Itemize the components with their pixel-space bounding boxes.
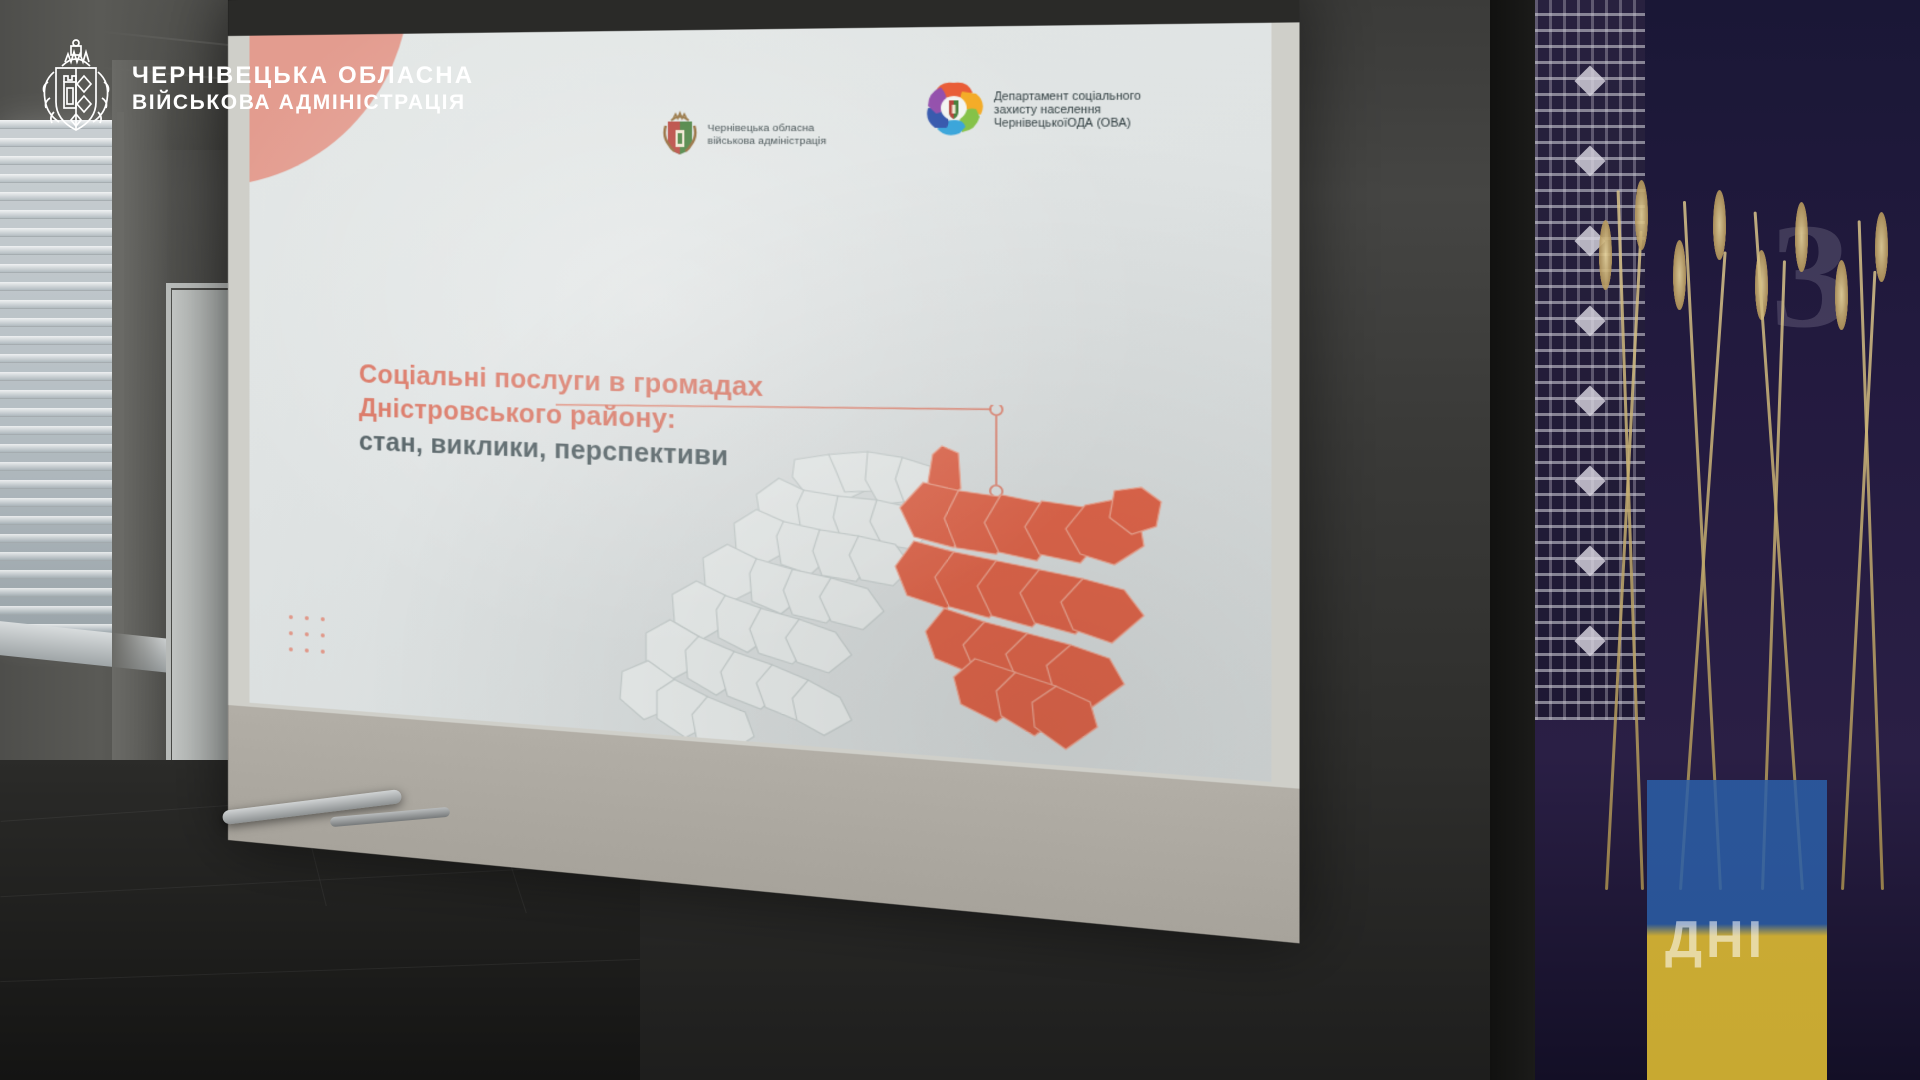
slide-logos: Чернівецька обласна військова адміністра… xyxy=(661,78,1211,169)
coat-of-arms-icon xyxy=(38,38,114,139)
decor-dot xyxy=(289,647,293,651)
decor-dot xyxy=(321,633,325,637)
slide-headline: Соціальні послуги в громадах Дністровськ… xyxy=(359,358,923,484)
decor-dot xyxy=(305,632,309,636)
banner-gap xyxy=(1490,0,1535,1080)
decor-dot xyxy=(305,648,309,652)
decor-dot xyxy=(321,617,325,621)
channel-watermark: ЧЕРНІВЕЦЬКА ОБЛАСНА ВІЙСЬКОВА АДМІНІСТРА… xyxy=(38,38,474,139)
decor-dot xyxy=(321,649,325,653)
wall-pillar xyxy=(112,60,172,760)
decor-dot-grid xyxy=(289,615,337,667)
decor-dot xyxy=(289,631,293,635)
chernivtsi-coat-of-arms-icon xyxy=(661,109,698,161)
logo-social-department: Департамент соціального захисту населенн… xyxy=(923,78,1141,142)
social-protection-department-emblem-icon xyxy=(923,79,984,142)
conference-room-scene: З ДНІ xyxy=(0,0,1920,1080)
decor-dot xyxy=(305,616,309,620)
logo-social-department-label: Департамент соціального захисту населенн… xyxy=(994,90,1141,130)
logo-chernivtsi-ova: Чернівецька обласна військова адміністра… xyxy=(661,108,826,161)
wheat-illustration xyxy=(1595,90,1920,890)
watermark-line-1: ЧЕРНІВЕЦЬКА ОБЛАСНА xyxy=(132,61,474,90)
window-frame xyxy=(0,112,124,652)
banner-word: ДНІ xyxy=(1665,910,1766,970)
decor-dot xyxy=(289,615,293,619)
watermark-line-2: ВІЙСЬКОВА АДМІНІСТРАЦІЯ xyxy=(132,90,474,116)
logo-chernivtsi-ova-label: Чернівецька обласна військова адміністра… xyxy=(707,122,826,147)
decorative-banner: З ДНІ xyxy=(1535,0,1920,1080)
